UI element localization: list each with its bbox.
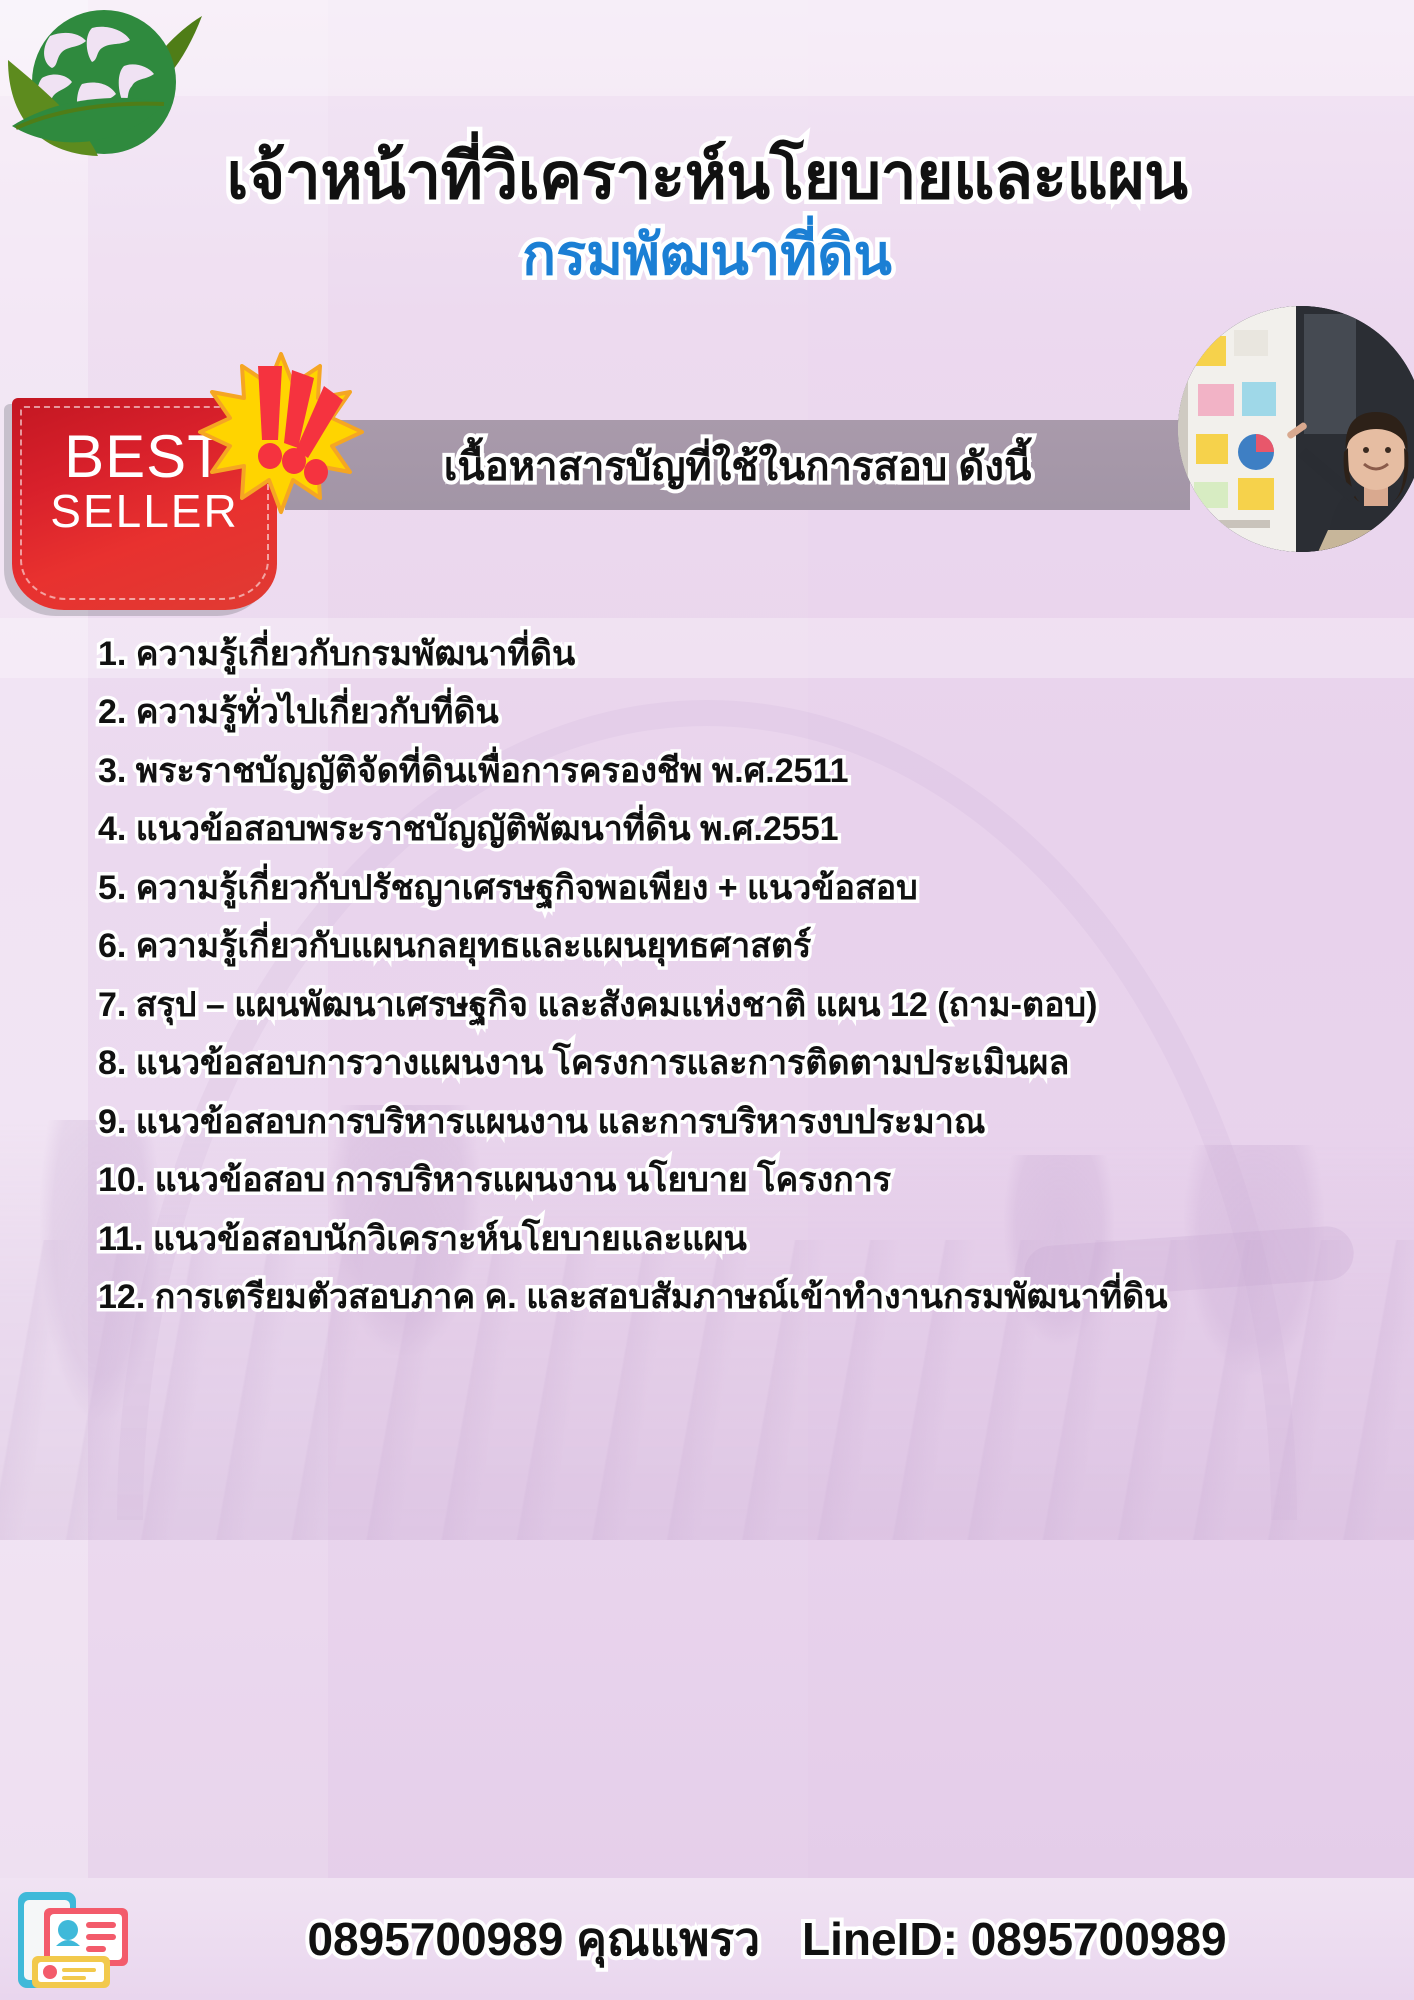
contents-banner-label: เนื้อหาสารบัญที่ใช้ในการสอบ ดังนี้ [285, 428, 1190, 504]
poster-canvas: เจ้าหน้าที่วิเคราะห์นโยบายและแผน กรมพัฒน… [0, 0, 1414, 2000]
list-item: 5. ความรู้เกี่ยวกับปรัชญาเศรษฐกิจพอเพียง… [98, 859, 1354, 917]
page-title: เจ้าหน้าที่วิเคราะห์นโยบายและแผน [0, 142, 1414, 211]
list-item: 2. ความรู้ทั่วไปเกี่ยวกับที่ดิน [98, 683, 1354, 741]
contact-line-id: LineID: 0895700989 [802, 1912, 1227, 1966]
badge-line-seller: SELLER [12, 487, 277, 535]
contents-list: 1. ความรู้เกี่ยวกับกรมพัฒนาที่ดิน 2. ควา… [98, 625, 1354, 1327]
background-column-1 [0, 0, 88, 2000]
badge-line-best: BEST [12, 428, 277, 487]
list-item: 8. แนวข้อสอบการวางแผนงาน โครงการและการติ… [98, 1034, 1354, 1092]
list-item: 11. แนวข้อสอบนักวิเคราะห์นโยบายและแผน [98, 1210, 1354, 1268]
background-band-top [0, 0, 1414, 96]
contact-card-icon [14, 1884, 134, 1994]
list-item: 3. พระราชบัญญัติจัดที่ดินเพื่อการครองชีพ… [98, 742, 1354, 800]
instructor-photo [1178, 306, 1414, 552]
list-item: 1. ความรู้เกี่ยวกับกรมพัฒนาที่ดิน [98, 625, 1354, 683]
list-item: 12. การเตรียมตัวสอบภาค ค. และสอบสัมภาษณ์… [98, 1268, 1354, 1326]
page-subtitle: กรมพัฒนาที่ดิน [0, 225, 1414, 285]
list-item: 9. แนวข้อสอบการบริหารแผนงาน และการบริหาร… [98, 1093, 1354, 1151]
contact-footer: 0895700989 คุณแพรว LineID: 0895700989 [0, 1878, 1414, 2000]
best-seller-badge-text: BEST SELLER [12, 428, 277, 535]
list-item: 10. แนวข้อสอบ การบริหารแผนงาน นโยบาย โคร… [98, 1151, 1354, 1209]
list-item: 7. สรุป – แผนพัฒนาเศรษฐกิจ และสังคมแห่งช… [98, 976, 1354, 1034]
best-seller-badge: BEST SELLER [12, 398, 277, 610]
contact-details: 0895700989 คุณแพรว LineID: 0895700989 [134, 1903, 1414, 1976]
poster-heading-group: เจ้าหน้าที่วิเคราะห์นโยบายและแผน กรมพัฒน… [0, 142, 1414, 286]
list-item: 6. ความรู้เกี่ยวกับแผนกลยุทธและแผนยุทธศา… [98, 917, 1354, 975]
list-item: 4. แนวข้อสอบพระราชบัญญัติพัฒนาที่ดิน พ.ศ… [98, 800, 1354, 858]
contact-phone: 0895700989 คุณแพรว [307, 1903, 760, 1976]
